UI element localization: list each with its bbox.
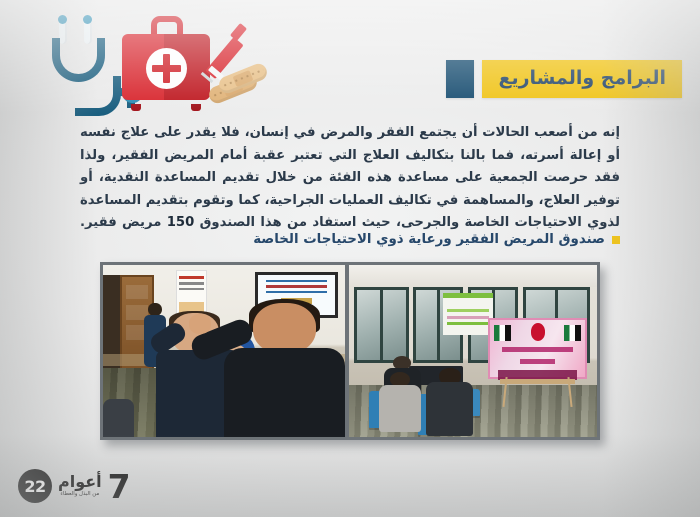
anniversary-badge: 22: [18, 469, 52, 503]
years-word: أعوام: [58, 474, 102, 490]
slide-title-banner: البرامج والمشاريع: [446, 60, 682, 98]
anniversary-logo: 7 أعوام من البذل والعطاء 22: [18, 469, 131, 503]
body-paragraph-tail: مريض فقير.: [80, 215, 167, 230]
years-subtitle: من البذل والعطاء: [60, 492, 99, 497]
title-accent-square: [446, 60, 474, 98]
first-aid-kit-icon: [122, 28, 210, 106]
doctor-examining-child-photo: [103, 265, 345, 437]
medical-icons-group: [28, 8, 258, 113]
bullet-square-icon: [612, 236, 620, 244]
bullet-item-label: صندوق المريض الفقير ورعاية ذوي الاحتياجا…: [253, 232, 605, 247]
presentation-slide: البرامج والمشاريع إنه من أصعب الحالات أن…: [0, 0, 700, 517]
slide-header: البرامج والمشاريع: [0, 0, 700, 118]
community-medical-day-photo: [349, 265, 597, 437]
years-number: 7: [108, 470, 131, 503]
years-text-group: أعوام من البذل والعطاء: [58, 474, 102, 497]
bandage-icon: [206, 60, 272, 110]
bullet-item: صندوق المريض الفقير ورعاية ذوي الاحتياجا…: [253, 232, 620, 247]
highlight-number: 150: [167, 215, 195, 230]
photo-gallery: [100, 262, 600, 440]
page-title: البرامج والمشاريع: [482, 60, 682, 98]
body-paragraph: إنه من أصعب الحالات أن يجتمع الفقر والمر…: [80, 122, 620, 235]
